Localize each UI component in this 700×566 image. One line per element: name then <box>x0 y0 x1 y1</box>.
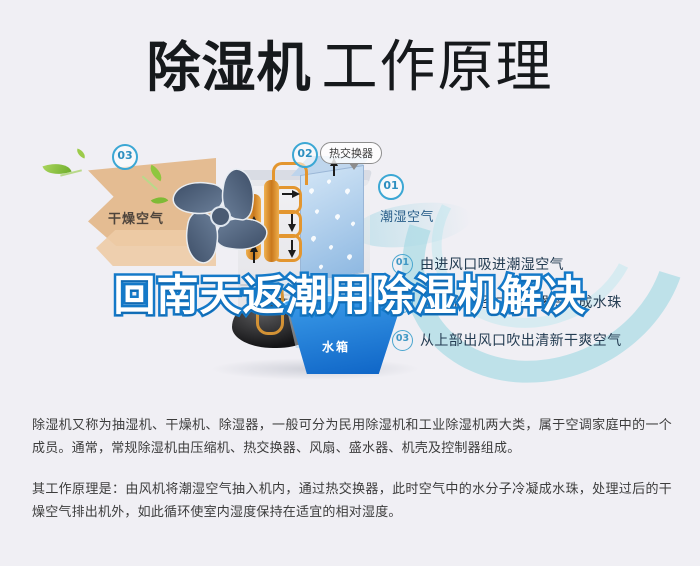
water-tank-label: 水箱 <box>322 338 350 355</box>
page-title: 除湿机工作原理 <box>0 22 700 103</box>
dry-air-label: 干燥空气 <box>108 208 164 227</box>
badge-dry-air: 03 <box>112 144 138 170</box>
step-text: 从上部出风口吹出清新干爽空气 <box>420 330 622 350</box>
paragraph-1: 除湿机又称为抽湿机、干燥机、除湿器，一般可分为民用除湿机和工业除湿机两大类，属于… <box>32 414 672 460</box>
leaf-icon <box>75 149 87 159</box>
fan-icon <box>170 164 274 268</box>
leaf-icon <box>42 158 71 179</box>
flow-arrow-shaft-icon <box>291 240 293 251</box>
humid-air-label: 潮湿空气 <box>380 206 434 225</box>
flow-arrow-down-icon <box>288 250 296 258</box>
badge-humid-air: 01 <box>378 174 404 200</box>
paragraph-2: 其工作原理是：由风机将潮湿空气抽入机内，通过热交换器，此时空气中的水分子冷凝成水… <box>32 478 672 524</box>
heat-exchanger-bubble: 热交换器 <box>320 142 382 164</box>
overlay-headline: 回南天返潮用除湿机解决 <box>0 262 700 323</box>
infographic-page: 除湿机工作原理 干燥空气 <box>0 0 700 566</box>
step-number-badge: 03 <box>392 330 413 351</box>
flow-arrow-shaft-icon <box>291 214 293 225</box>
page-title-bold: 除湿机 <box>147 36 312 99</box>
flow-arrow-down-icon <box>288 224 296 232</box>
list-item: 03 从上部出风口吹出清新干爽空气 <box>392 324 692 356</box>
flow-arrow-shaft-icon <box>282 193 294 195</box>
body-copy: 除湿机又称为抽湿机、干燥机、除湿器，一般可分为民用除湿机和工业除湿机两大类，属于… <box>32 414 672 542</box>
page-title-light: 工作原理 <box>322 35 554 100</box>
badge-heat-exchanger: 02 <box>292 142 318 168</box>
flow-arrow-shaft-icon <box>333 166 335 176</box>
